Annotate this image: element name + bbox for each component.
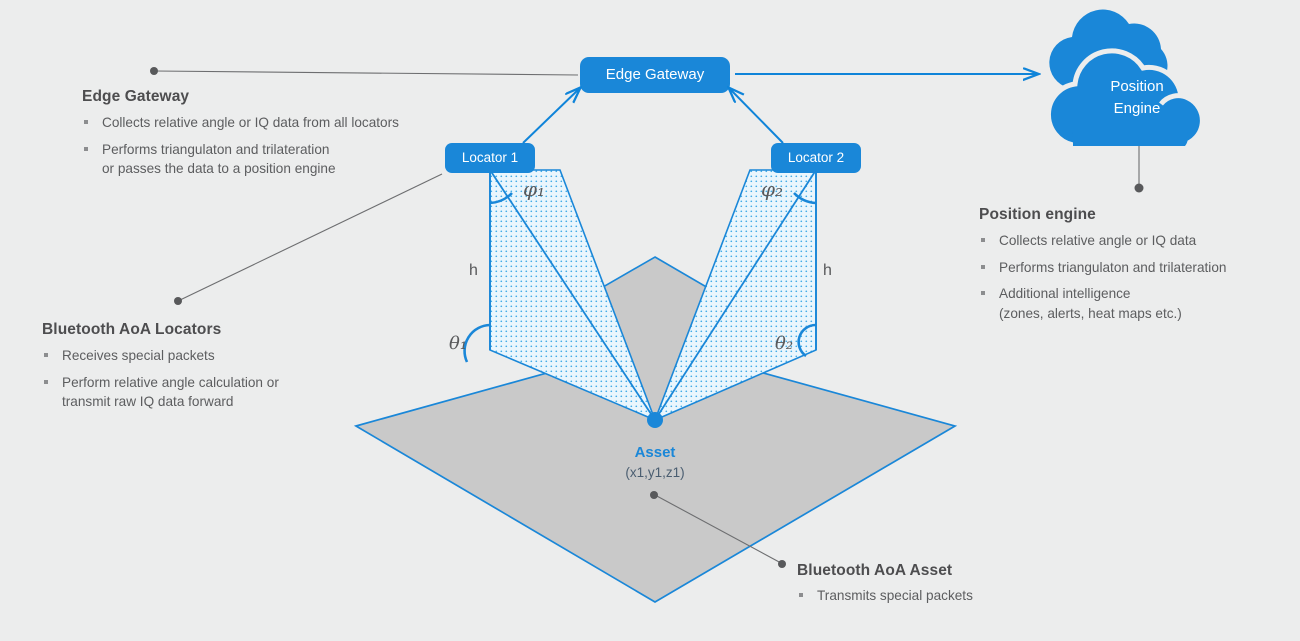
callout-locators-bullets: Receives special packetsPerform relative… xyxy=(42,346,372,412)
bullet-text: Collects relative angle or IQ data from … xyxy=(102,115,399,130)
callout-locators-title: Bluetooth AoA Locators xyxy=(42,321,372,339)
bullet-square-icon xyxy=(981,291,985,295)
theta2-label: θ₂ xyxy=(775,333,793,354)
phi2-label: φ₂ xyxy=(761,177,783,201)
asset-point xyxy=(647,412,663,428)
callout-asset-bullets: Transmits special packets xyxy=(797,586,1087,606)
arrow-locator1-to-gateway xyxy=(523,88,580,143)
bullet-text: Receives special packets xyxy=(62,348,215,363)
bullet-item: Collects relative angle or IQ data from … xyxy=(82,113,482,133)
callout-edge-gateway-bullets: Collects relative angle or IQ data from … xyxy=(82,113,482,179)
callout-asset-title: Bluetooth AoA Asset xyxy=(797,562,1087,580)
arrow-locator2-to-gateway xyxy=(729,88,783,143)
bullet-square-icon xyxy=(84,120,88,124)
bullet-item: Transmits special packets xyxy=(797,586,1087,606)
asset-label: Asset xyxy=(580,444,730,461)
bullet-square-icon xyxy=(799,593,803,597)
bullet-text: Performs triangulaton and trilaterationo… xyxy=(102,142,336,177)
callout-edge-gateway-title: Edge Gateway xyxy=(82,88,482,106)
bullet-item: Receives special packets xyxy=(42,346,372,366)
theta1-angle-arc xyxy=(465,325,490,362)
height2-label: h xyxy=(823,262,832,280)
bullet-square-icon xyxy=(981,238,985,242)
bullet-square-icon xyxy=(44,380,48,384)
bullet-square-icon xyxy=(44,353,48,357)
callout-locators: Bluetooth AoA Locators Receives special … xyxy=(42,321,372,412)
bullet-text: Performs triangulaton and trilateration xyxy=(999,260,1226,275)
asset-coordinates: (x1,y1,z1) xyxy=(580,465,730,480)
phi1-label: φ₁ xyxy=(523,177,545,201)
locator2-box[interactable] xyxy=(771,143,861,173)
bullet-item: Performs triangulaton and trilaterationo… xyxy=(82,140,482,179)
bullet-item: Additional intelligence(zones, alerts, h… xyxy=(979,284,1279,323)
callout-position-engine-bullets: Collects relative angle or IQ dataPerfor… xyxy=(979,231,1279,324)
bullet-item: Perform relative angle calculation ortra… xyxy=(42,373,372,412)
callout-position-engine: Position engine Collects relative angle … xyxy=(979,206,1279,324)
bullet-text: Additional intelligence(zones, alerts, h… xyxy=(999,286,1182,321)
height1-label: h xyxy=(469,262,478,280)
callout-asset: Bluetooth AoA Asset Transmits special pa… xyxy=(797,562,1087,606)
bullet-text: Transmits special packets xyxy=(817,588,973,603)
bullet-square-icon xyxy=(981,265,985,269)
callout-edge-gateway: Edge Gateway Collects relative angle or … xyxy=(82,88,482,179)
bullet-square-icon xyxy=(84,147,88,151)
callout-position-engine-title: Position engine xyxy=(979,206,1279,224)
bullet-item: Performs triangulaton and trilateration xyxy=(979,258,1279,278)
bullet-item: Collects relative angle or IQ data xyxy=(979,231,1279,251)
theta1-label: θ₁ xyxy=(449,333,467,354)
position-engine-cloud-icon[interactable] xyxy=(1048,10,1202,146)
bullet-text: Collects relative angle or IQ data xyxy=(999,233,1196,248)
edge-gateway-box[interactable] xyxy=(580,57,730,93)
bullet-text: Perform relative angle calculation ortra… xyxy=(62,375,279,410)
diagram-canvas: Edge Gateway Locator 1 Locator 2 Positio… xyxy=(0,0,1300,641)
